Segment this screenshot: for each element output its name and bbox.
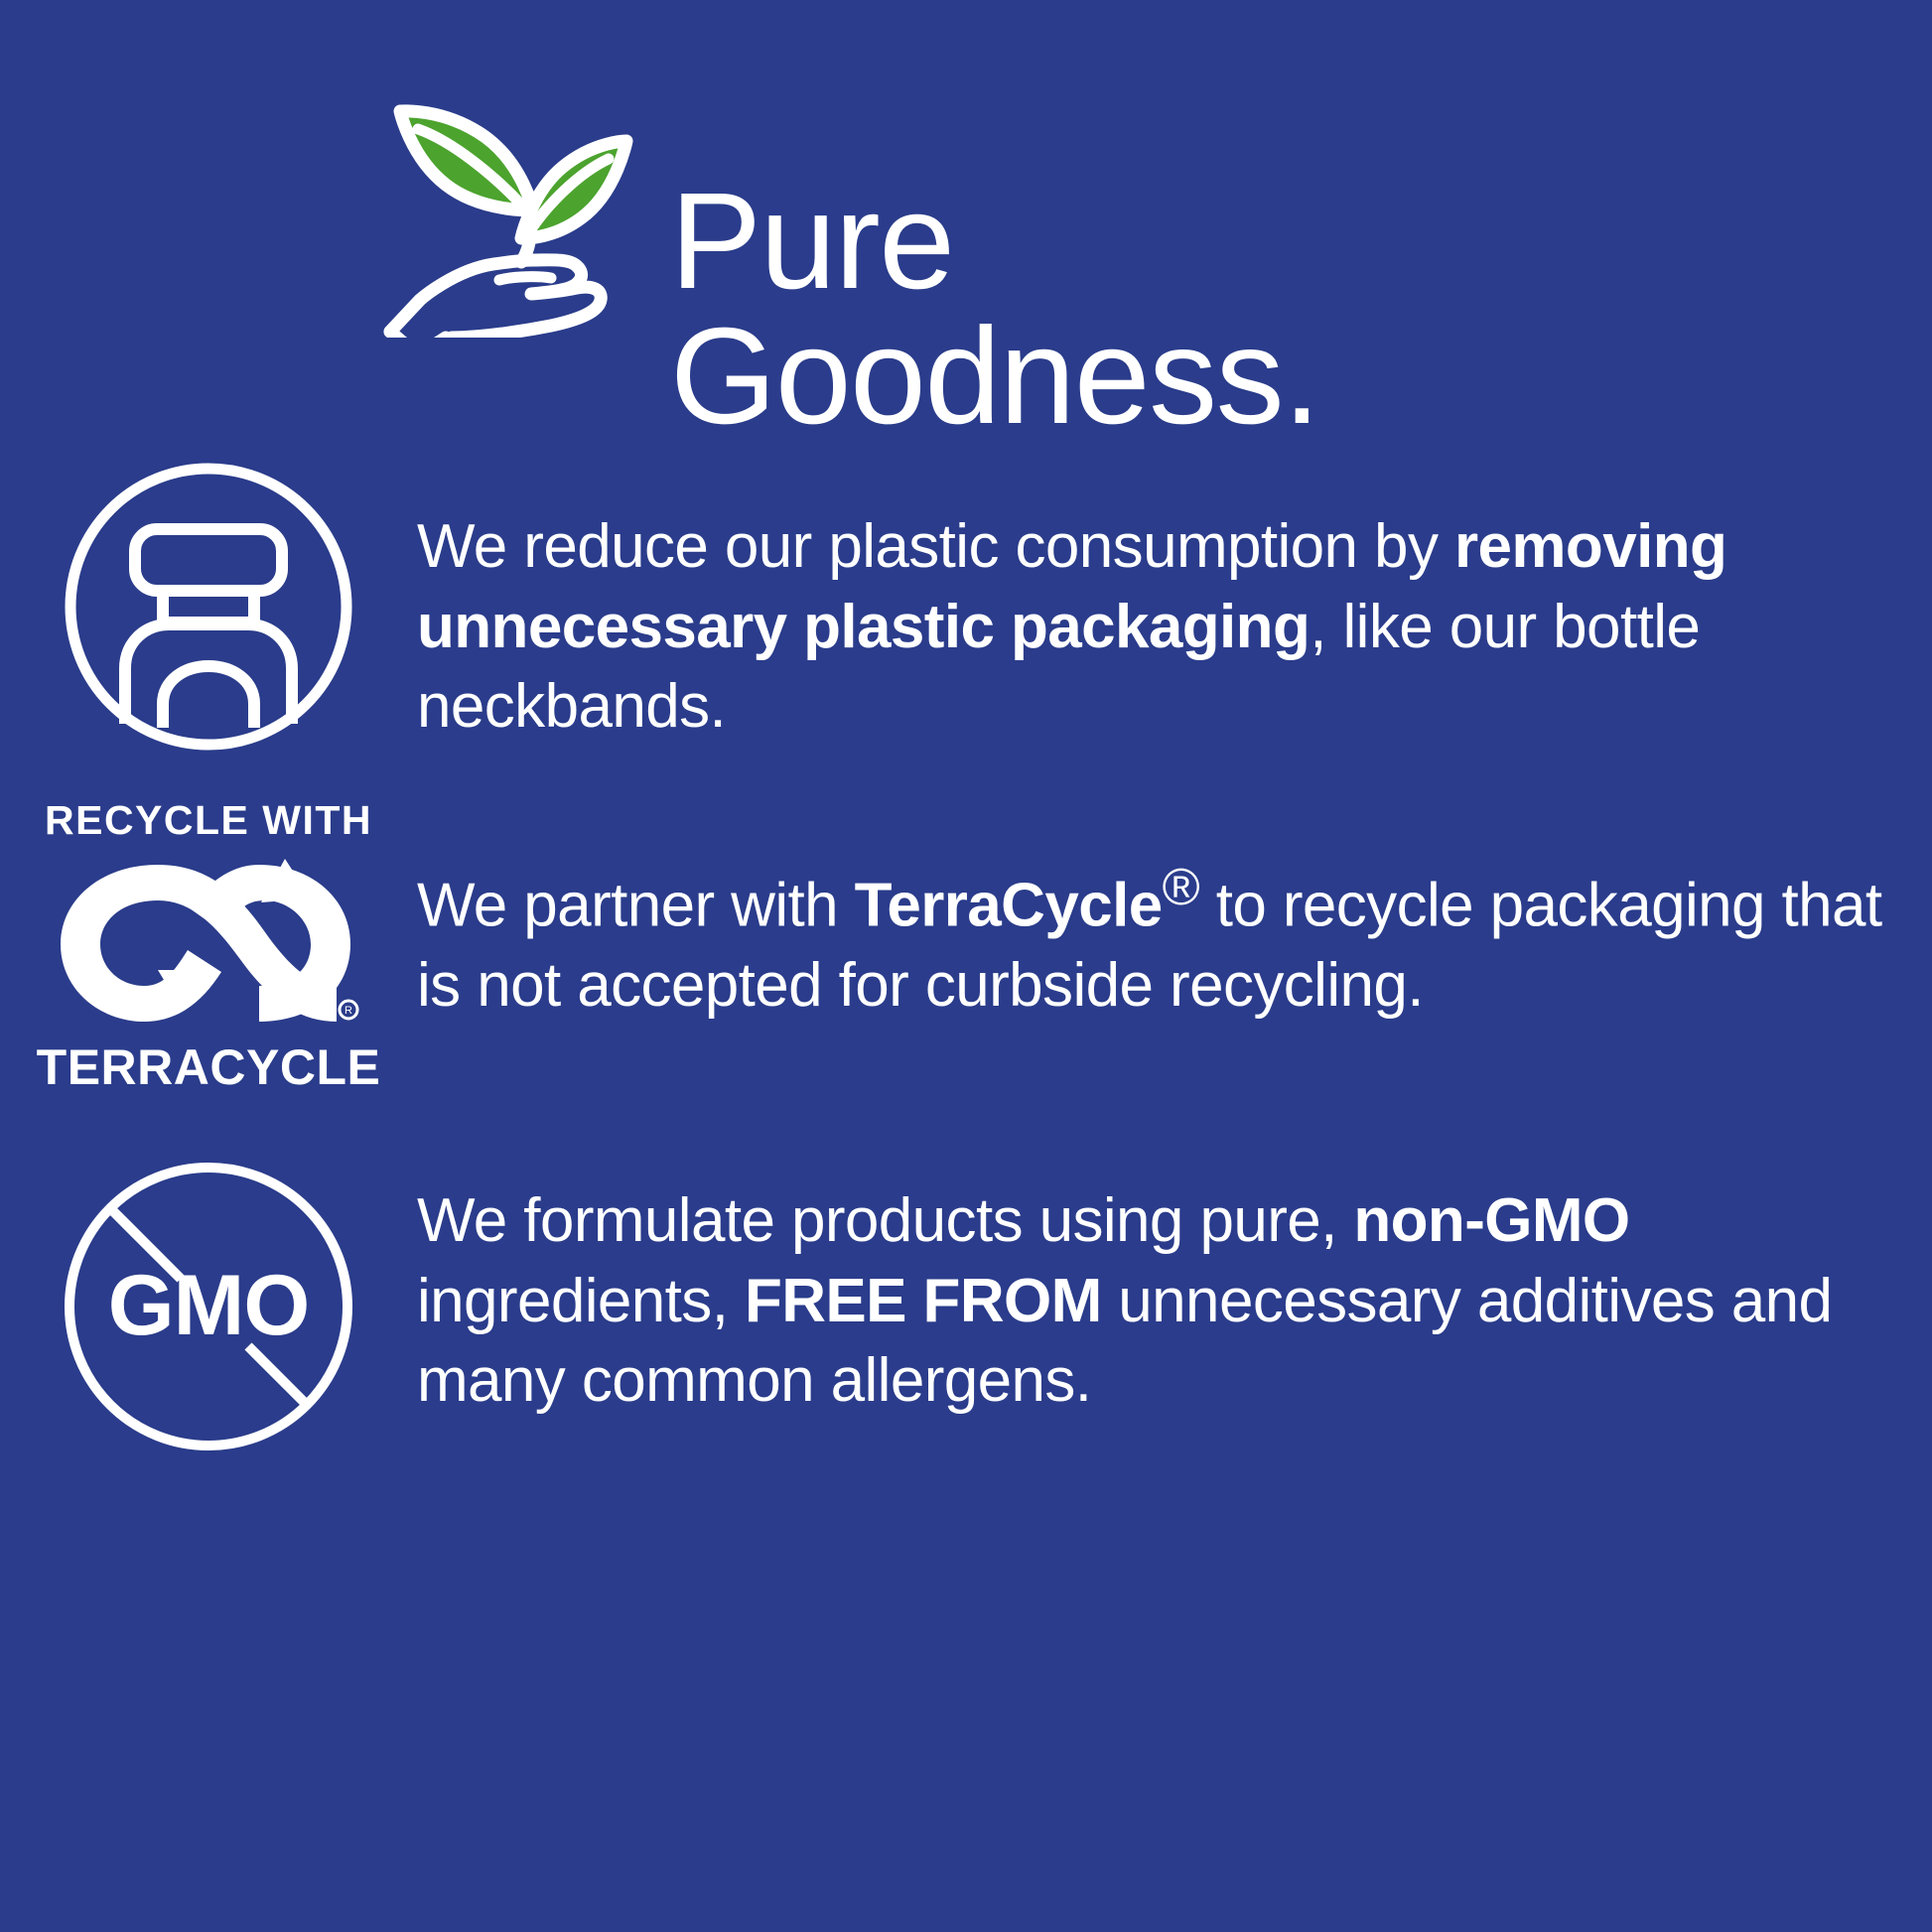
benefit-row-gmo-text: We formulate products using pure, non-GM…	[417, 1152, 1932, 1422]
benefit-row-plastic-text: We reduce our plastic consumption by rem…	[417, 452, 1932, 748]
pure-goodness-infographic: Pure Goodness.	[0, 0, 1932, 1932]
page-title: Pure Goodness.	[670, 171, 1319, 443]
benefit-row-plastic: We reduce our plastic consumption by rem…	[0, 452, 1932, 794]
no-gmo-icon-label: GMO	[108, 1258, 309, 1353]
benefit-rows: We reduce our plastic consumption by rem…	[0, 452, 1932, 1529]
benefit-row-gmo: GMO We formulate products using pure, no…	[0, 1152, 1932, 1529]
hand-holding-sprout-icon	[382, 89, 640, 338]
benefit-row-terracycle-icon-cell: RECYCLE WITH	[0, 794, 417, 1092]
benefit-row-gmo-icon-cell: GMO	[0, 1152, 417, 1455]
terracycle-logo: RECYCLE WITH	[55, 800, 362, 1092]
terracycle-top-label: RECYCLE WITH	[45, 800, 372, 841]
infinity-recycle-arrows-icon: R	[55, 851, 362, 1035]
benefit-row-terracycle: RECYCLE WITH	[0, 794, 1932, 1152]
benefit-row-terracycle-text: We partner with TerraCycle® to recycle p…	[417, 794, 1932, 1027]
svg-text:R: R	[345, 1005, 352, 1017]
terracycle-bottom-label: TERRACYCLE	[37, 1042, 381, 1092]
benefit-row-plastic-icon-cell	[0, 452, 417, 756]
bottle-in-circle-icon	[60, 458, 357, 756]
no-gmo-icon: GMO	[60, 1158, 357, 1455]
